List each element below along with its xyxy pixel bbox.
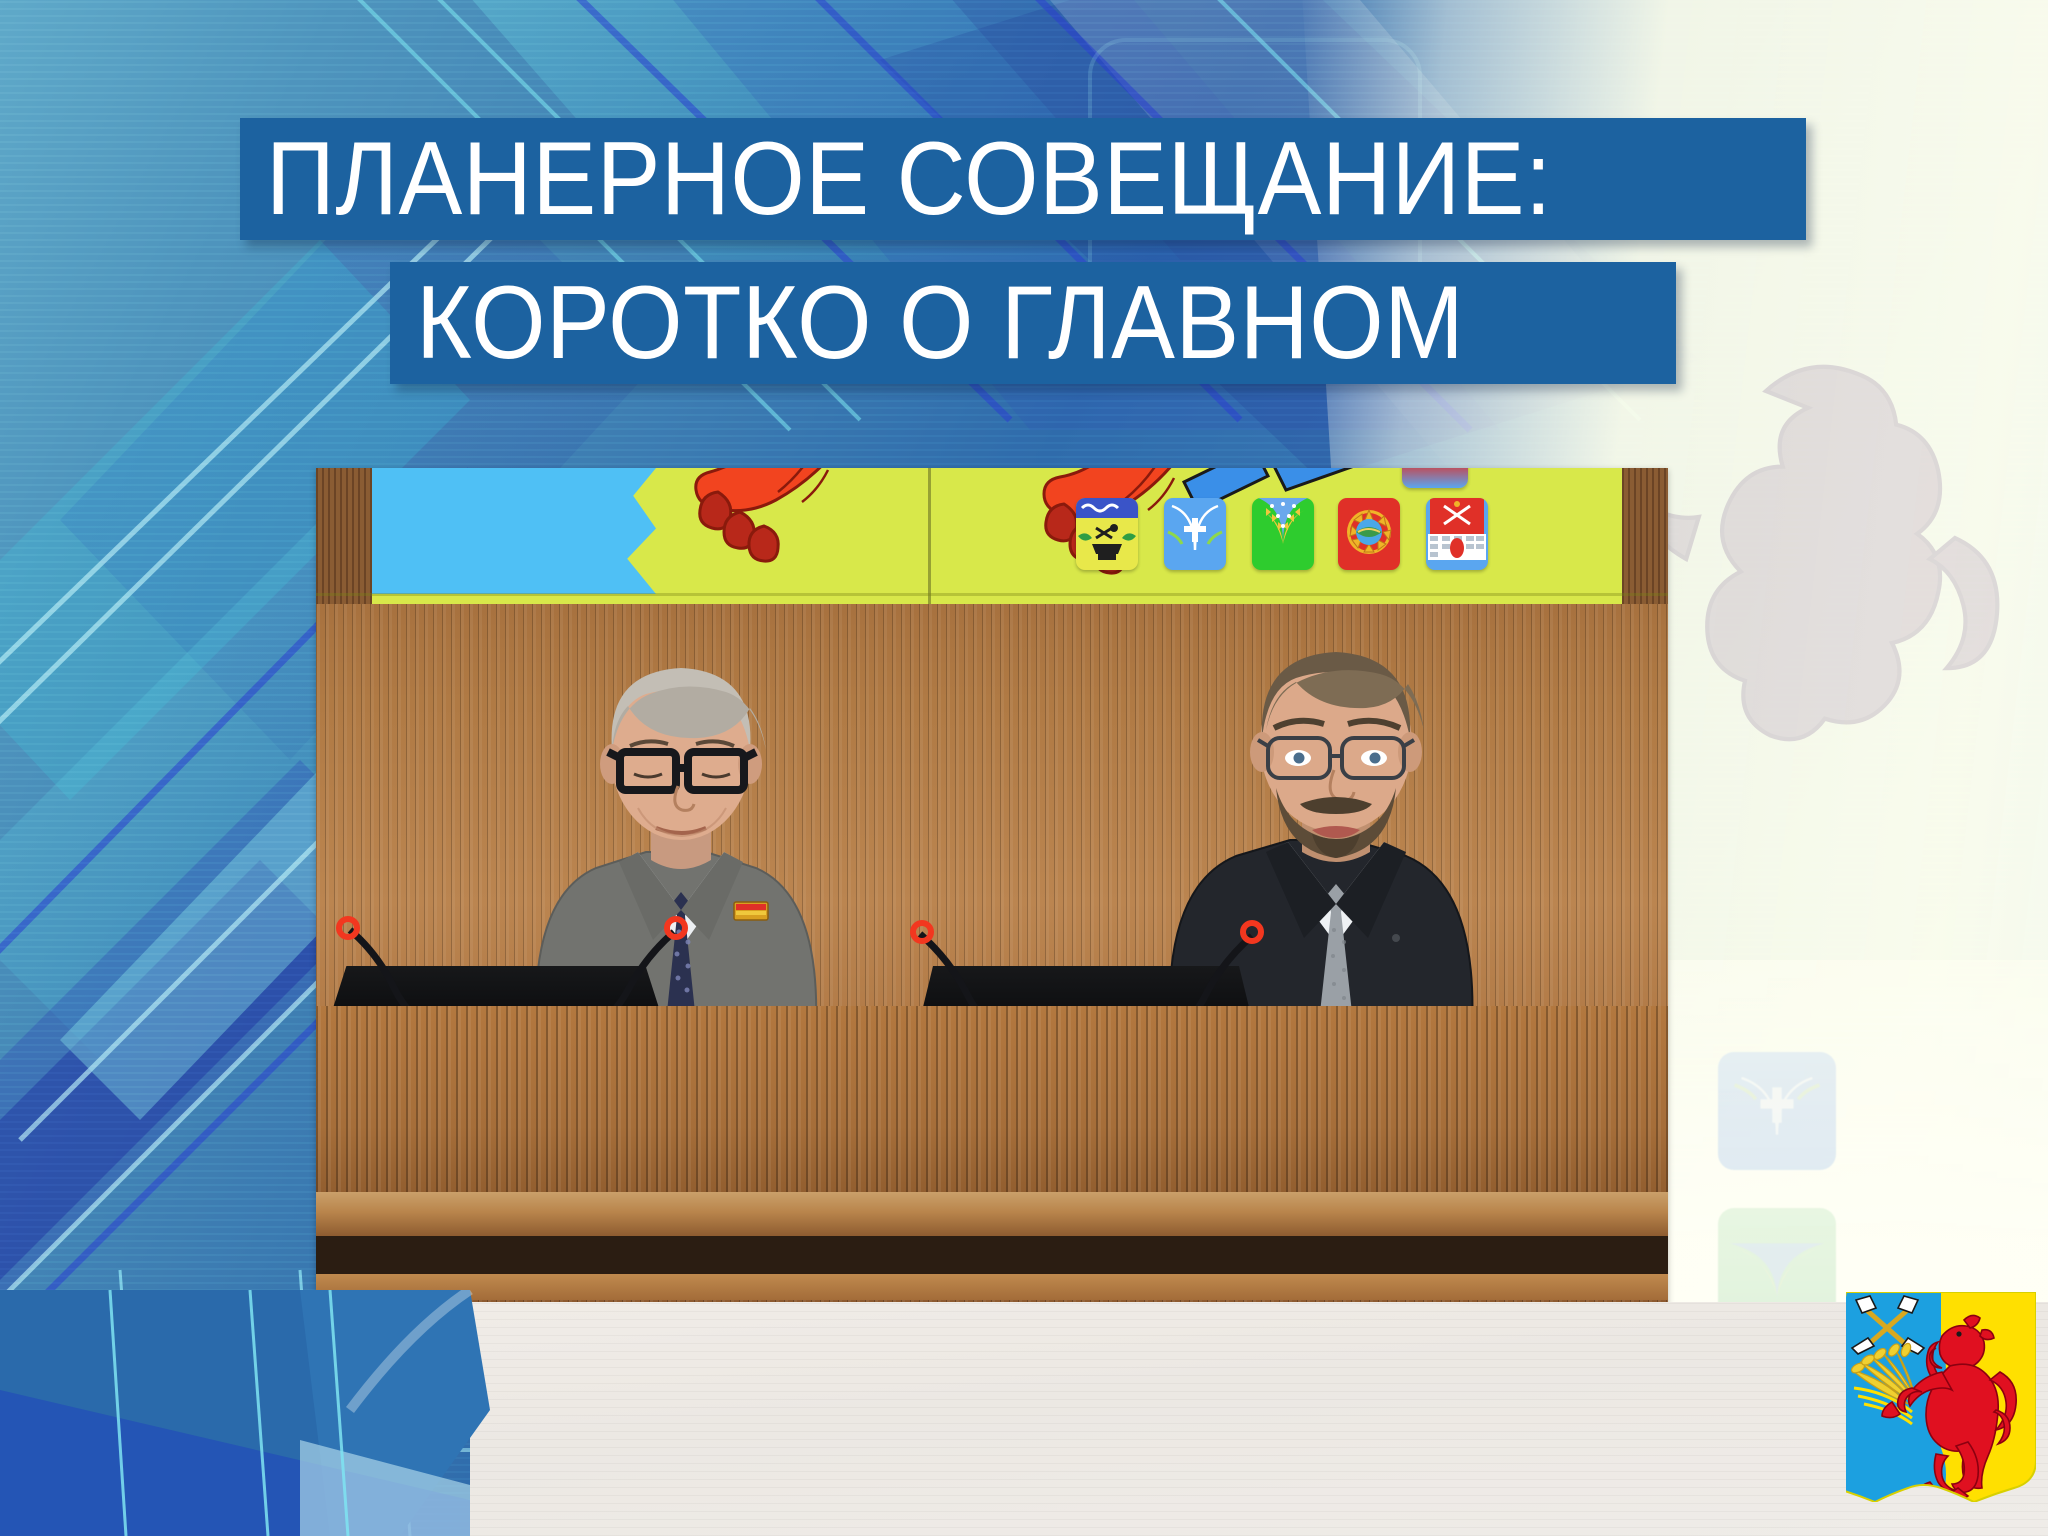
title-bar-line1: ПЛАНЕРНОЕ СОВЕЩАНИЕ: xyxy=(240,118,1806,240)
desk-top-edge xyxy=(316,1192,1668,1236)
bottom-left-blue-wedge xyxy=(0,1290,520,1536)
desk-front-panel xyxy=(316,1006,1668,1206)
krasnoyarsk-krai-coat-of-arms xyxy=(1846,1292,2036,1502)
watermark-shield-cross xyxy=(1718,1052,1836,1170)
banner-baseline xyxy=(316,593,1668,596)
shield-fortress xyxy=(1426,498,1488,570)
shield-wheat xyxy=(1252,498,1314,570)
banner-blue-wave-edge xyxy=(596,468,656,594)
coat-of-arms-shield xyxy=(1846,1292,2036,1502)
title-bar-line2: КОРОТКО О ГЛАВНОМ xyxy=(390,262,1676,384)
bottom-cream-panel xyxy=(470,1302,2048,1536)
desk-under-shadow xyxy=(316,1236,1668,1276)
conference-hall-photo xyxy=(316,468,1668,1304)
banner-blue-field xyxy=(372,468,612,594)
banner-panel-seam xyxy=(928,468,931,604)
shield-sunflower xyxy=(1338,498,1400,570)
banner-left-wood-edge xyxy=(316,468,372,604)
title-line1-text: ПЛАНЕРНОЕ СОВЕЩАНИЕ: xyxy=(266,127,1552,231)
shield-partial-top xyxy=(1402,468,1468,488)
slide-canvas: ПЛАНЕРНОЕ СОВЕЩАНИЕ: КОРОТКО О ГЛАВНОМ xyxy=(0,0,2048,1536)
title-line2-text: КОРОТКО О ГЛАВНОМ xyxy=(416,271,1464,375)
banner-right-wood-edge xyxy=(1622,468,1668,604)
shield-cross xyxy=(1164,498,1226,570)
lapel-pin xyxy=(734,902,768,920)
lion-paw-left-icon xyxy=(666,468,866,598)
shield-anvil xyxy=(1076,498,1138,570)
lion-rampant-ghost-watermark xyxy=(1640,300,2048,860)
heraldic-banner xyxy=(316,468,1668,604)
